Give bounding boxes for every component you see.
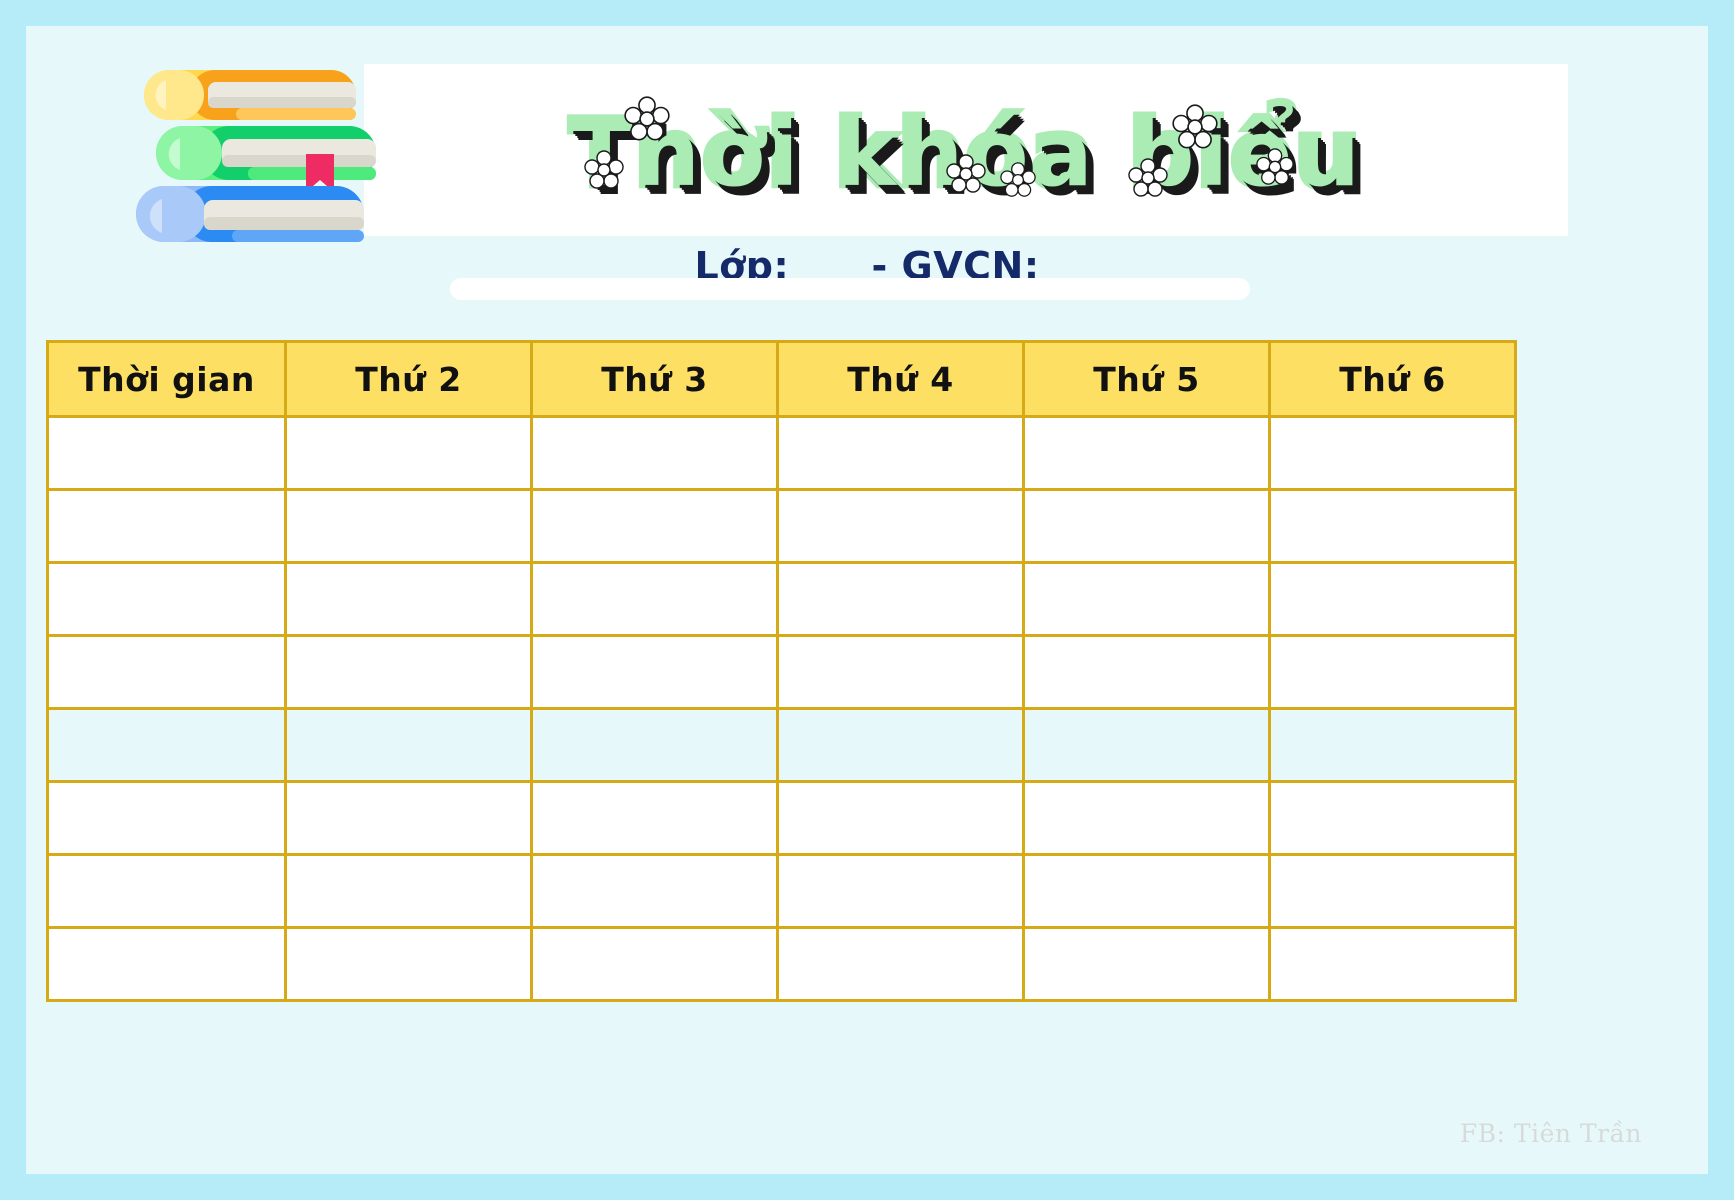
cell-day-1[interactable] bbox=[286, 928, 532, 1001]
cell-day-5[interactable] bbox=[1270, 928, 1516, 1001]
cell-time[interactable] bbox=[48, 636, 286, 709]
cell-day-4[interactable] bbox=[1024, 417, 1270, 490]
cell-time[interactable] bbox=[48, 417, 286, 490]
table-row bbox=[48, 928, 1516, 1001]
cell-day-2[interactable] bbox=[532, 636, 778, 709]
cell-day-4[interactable] bbox=[1024, 636, 1270, 709]
table-row bbox=[48, 782, 1516, 855]
cell-time[interactable] bbox=[48, 490, 286, 563]
cell-day-4[interactable] bbox=[1024, 490, 1270, 563]
cell-day-1[interactable] bbox=[286, 563, 532, 636]
table-header-row: Thời gian Thứ 2 Thứ 3 Thứ 4 Thứ 5 Thứ 6 bbox=[48, 342, 1516, 417]
cell-time[interactable] bbox=[48, 855, 286, 928]
page-root: Thời khóa biểu bbox=[0, 0, 1734, 1200]
green-book bbox=[156, 126, 376, 192]
cell-day-3[interactable] bbox=[778, 417, 1024, 490]
stack-of-books-icon bbox=[136, 64, 376, 256]
header-cell-thu-2: Thứ 2 bbox=[286, 342, 532, 417]
orange-book bbox=[144, 70, 356, 120]
cell-day-1[interactable] bbox=[286, 417, 532, 490]
cell-day-1[interactable] bbox=[286, 490, 532, 563]
cell-time[interactable] bbox=[48, 928, 286, 1001]
page-title: Thời khóa biểu bbox=[456, 78, 1476, 228]
cell-time[interactable] bbox=[48, 782, 286, 855]
cell-day-5[interactable] bbox=[1270, 709, 1516, 782]
write-in-bar[interactable] bbox=[450, 278, 1250, 300]
cell-day-2[interactable] bbox=[532, 417, 778, 490]
cell-day-3[interactable] bbox=[778, 490, 1024, 563]
cell-day-5[interactable] bbox=[1270, 417, 1516, 490]
cell-time[interactable] bbox=[48, 563, 286, 636]
cell-day-1[interactable] bbox=[286, 709, 532, 782]
cell-day-3[interactable] bbox=[778, 855, 1024, 928]
page-title-text: Thời khóa biểu bbox=[570, 100, 1362, 207]
cell-day-5[interactable] bbox=[1270, 490, 1516, 563]
table-row bbox=[48, 855, 1516, 928]
header-cell-thu-5: Thứ 5 bbox=[1024, 342, 1270, 417]
table-row bbox=[48, 417, 1516, 490]
cell-day-1[interactable] bbox=[286, 636, 532, 709]
table-row bbox=[48, 636, 1516, 709]
cell-time[interactable] bbox=[48, 709, 286, 782]
cell-day-3[interactable] bbox=[778, 709, 1024, 782]
inner-panel: Thời khóa biểu bbox=[26, 26, 1708, 1174]
table-row bbox=[48, 563, 1516, 636]
cell-day-4[interactable] bbox=[1024, 782, 1270, 855]
cell-day-4[interactable] bbox=[1024, 709, 1270, 782]
cell-day-3[interactable] bbox=[778, 928, 1024, 1001]
blue-book bbox=[136, 186, 364, 242]
header-cell-thu-4: Thứ 4 bbox=[778, 342, 1024, 417]
header-cell-thu-3: Thứ 3 bbox=[532, 342, 778, 417]
cell-day-3[interactable] bbox=[778, 636, 1024, 709]
cell-day-4[interactable] bbox=[1024, 855, 1270, 928]
schedule-table: Thời gian Thứ 2 Thứ 3 Thứ 4 Thứ 5 Thứ 6 bbox=[46, 340, 1517, 1002]
cell-day-3[interactable] bbox=[778, 563, 1024, 636]
header-cell-thu-6: Thứ 6 bbox=[1270, 342, 1516, 417]
header-cell-thoi-gian: Thời gian bbox=[48, 342, 286, 417]
table-row bbox=[48, 490, 1516, 563]
cell-day-3[interactable] bbox=[778, 782, 1024, 855]
cell-day-2[interactable] bbox=[532, 709, 778, 782]
cell-day-5[interactable] bbox=[1270, 855, 1516, 928]
cell-day-1[interactable] bbox=[286, 855, 532, 928]
cell-day-5[interactable] bbox=[1270, 563, 1516, 636]
cell-day-2[interactable] bbox=[532, 563, 778, 636]
table-body bbox=[48, 417, 1516, 1001]
cell-day-2[interactable] bbox=[532, 782, 778, 855]
cell-day-2[interactable] bbox=[532, 855, 778, 928]
table-row bbox=[48, 709, 1516, 782]
cell-day-5[interactable] bbox=[1270, 782, 1516, 855]
cell-day-4[interactable] bbox=[1024, 563, 1270, 636]
cell-day-2[interactable] bbox=[532, 928, 778, 1001]
cell-day-1[interactable] bbox=[286, 782, 532, 855]
cell-day-4[interactable] bbox=[1024, 928, 1270, 1001]
watermark: FB: Tiên Trần bbox=[1460, 1119, 1642, 1148]
cell-day-5[interactable] bbox=[1270, 636, 1516, 709]
cell-day-2[interactable] bbox=[532, 490, 778, 563]
